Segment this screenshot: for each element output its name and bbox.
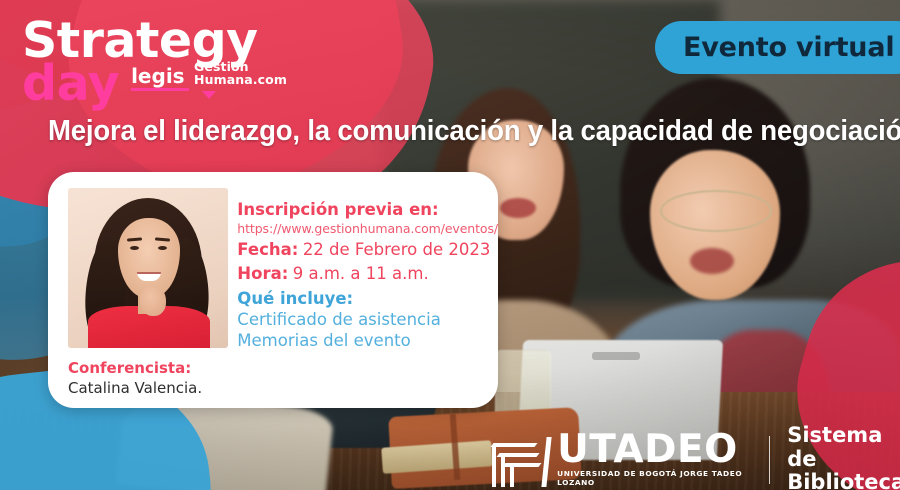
logo-bottom-row: day legis Gestion Humana.com [22,59,352,108]
includes-line: Qué incluye: [237,289,498,309]
speaker-name: Catalina Valencia. [68,379,231,398]
utadeo-footer-logo: UTADEO UNIVERSIDAD DE BOGOTÁ JORGE TADEO… [492,424,900,490]
gestion-humana-wordmark: Gestion Humana.com [194,60,287,87]
utadeo-stem-2 [501,455,505,487]
page-title: Mejora el liderazgo, la comunicación y l… [48,115,827,148]
utadeo-wordmark-block: UTADEO UNIVERSIDAD DE BOGOTÁ JORGE TADEO… [557,432,749,487]
gestion-humana-line2: Humana.com [194,72,287,87]
legis-gestion-humana-logo: legis Gestion Humana.com [131,60,287,100]
sistema-line2: Bibliotecas [787,471,900,490]
event-banner: Strategy day legis Gestion Humana.com Ev… [0,0,900,490]
utadeo-stem-tall [541,437,551,487]
legis-underline-bar [131,88,189,91]
includes-label: Qué incluye: [237,289,353,308]
utadeo-mark-icon [492,433,553,487]
speaker-photo [68,188,228,348]
logo-divider [769,436,770,484]
time-line: Hora: 9 a.m. a 11 a.m. [237,264,498,284]
includes-item: Certificado de asistencia [237,309,498,330]
evento-virtual-label: Evento virtual [683,32,894,63]
speaker-label: Conferencista: [68,359,231,378]
event-info-card: Conferencista: Catalina Valencia. Inscri… [48,172,498,408]
utadeo-bar-1 [490,443,537,447]
time-label: Hora: [237,264,288,283]
includes-item: Memorias del evento [237,330,498,351]
utadeo-stem-3 [510,465,514,487]
registration-line: Inscripción previa en: [237,200,498,220]
date-line: Fecha: 22 de Febrero de 2023 [237,240,498,260]
legis-wordmark: legis [131,66,185,86]
utadeo-bar-3 [502,463,541,467]
utadeo-wordmark: UTADEO [557,432,749,468]
registration-url[interactable]: https://www.gestionhumana.com/eventos/ [237,221,498,236]
speaker-eye-left [130,246,139,250]
time-value: 9 a.m. a 11 a.m. [293,264,429,283]
sistema-line1: Sistema de [787,424,900,471]
strategy-day-logo: Strategy day legis Gestion Humana.com [22,16,352,108]
event-details: Inscripción previa en: https://www.gesti… [231,172,498,408]
sistema-bibliotecas-block: Sistema de Bibliotecas [787,424,900,490]
registration-label: Inscripción previa en: [237,200,438,219]
speaker-eye-right [158,246,167,250]
utadeo-stem-1 [492,445,496,487]
legis-chevron-icon [202,91,216,99]
speaker-credit: Conferencista: Catalina Valencia. [68,359,231,398]
speaker-hand [140,286,166,316]
utadeo-tagline: UNIVERSIDAD DE BOGOTÁ JORGE TADEO LOZANO [557,469,749,487]
date-label: Fecha: [237,240,298,259]
date-value: 22 de Febrero de 2023 [303,240,491,259]
evento-virtual-badge: Evento virtual [655,21,900,74]
speaker-panel: Conferencista: Catalina Valencia. [48,172,231,408]
logo-day-word: day [22,59,119,108]
